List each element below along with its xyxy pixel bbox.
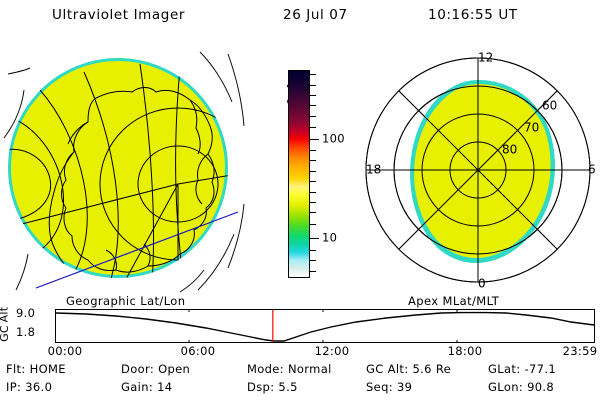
colorbar-minor-tick bbox=[310, 150, 316, 151]
colorbar-major-tick bbox=[310, 238, 319, 239]
colorbar-minor-tick bbox=[310, 85, 316, 86]
status-field: GLon: 90.8 bbox=[488, 380, 554, 394]
status-field: Flt: HOME bbox=[6, 362, 66, 376]
colorbar-minor-tick bbox=[310, 212, 316, 213]
colorbar-gradient-box bbox=[288, 70, 310, 278]
status-field: GC Alt: 5.6 Re bbox=[366, 362, 451, 376]
strip-ytick-low: 1.8 bbox=[16, 325, 35, 339]
polar-mlt-label: 0 bbox=[478, 277, 486, 291]
strip-label-geographic: Geographic Lat/Lon bbox=[66, 294, 185, 308]
colorbar-minor-tick bbox=[310, 171, 316, 172]
polar-mlt-label: 6 bbox=[588, 163, 596, 177]
colorbar-minor-tick bbox=[310, 116, 316, 117]
status-field: Mode: Normal bbox=[247, 362, 332, 376]
colorbar-minor-tick bbox=[310, 202, 316, 203]
strip-time-tick-label: 00:00 bbox=[48, 344, 83, 358]
strip-ylabel-alt: Alt bbox=[0, 307, 10, 323]
status-field: Dsp: 5.5 bbox=[247, 380, 298, 394]
observation-time: 10:16:55 UT bbox=[428, 7, 518, 23]
strip-time-tick-label: 06:00 bbox=[181, 344, 216, 358]
geographic-globe-image bbox=[0, 46, 258, 294]
colorbar-minor-tick bbox=[310, 192, 316, 193]
status-field: Gain: 14 bbox=[121, 380, 172, 394]
strip-time-tick-label: 18:00 bbox=[448, 344, 483, 358]
colorbar-minor-tick bbox=[310, 105, 316, 106]
strip-time-tick-label: 23:59 bbox=[563, 344, 598, 358]
colorbar-minor-tick bbox=[310, 224, 316, 225]
polar-mlt-label: 18 bbox=[366, 163, 381, 177]
orbit-altitude-curve bbox=[56, 310, 594, 342]
colorbar-tick-label: 10 bbox=[322, 233, 337, 245]
page-title: Ultraviolet Imager bbox=[52, 7, 185, 23]
polar-grid-overlay bbox=[366, 58, 590, 282]
header: Ultraviolet Imager 26 Jul 07 10:16:55 UT bbox=[0, 4, 600, 28]
apex-polar-plot: 121860607080 bbox=[356, 46, 600, 294]
observation-date: 26 Jul 07 bbox=[283, 7, 348, 23]
colorbar-minor-tick bbox=[310, 181, 316, 182]
colorbar-major-tick bbox=[310, 139, 319, 140]
uvi-summary-page: Ultraviolet Imager 26 Jul 07 10:16:55 UT bbox=[0, 0, 600, 400]
colorbar-panel: photon cm-2s-1 10010 bbox=[265, 46, 355, 294]
strip-plot-box bbox=[55, 309, 595, 343]
polar-latitude-label: 80 bbox=[502, 143, 517, 157]
colorbar-minor-tick bbox=[310, 127, 316, 128]
status-field: IP: 36.0 bbox=[6, 380, 52, 394]
colorbar-ticks: 10010 bbox=[310, 70, 354, 278]
polar-latitude-label: 60 bbox=[542, 99, 557, 113]
strip-label-apex: Apex MLat/MLT bbox=[408, 294, 499, 308]
polar-mlt-label: 12 bbox=[478, 51, 493, 65]
strip-time-tick-label: 12:00 bbox=[315, 344, 350, 358]
colorbar-minor-tick bbox=[310, 271, 316, 272]
orbit-altitude-strip-panel: Geographic Lat/Lon Apex MLat/MLT Alt GC … bbox=[0, 294, 600, 360]
colorbar-minor-tick bbox=[310, 74, 316, 75]
status-field: GLat: -77.1 bbox=[488, 362, 556, 376]
colorbar-gradient bbox=[289, 71, 309, 277]
strip-ylabel-gc: GC bbox=[0, 325, 11, 342]
colorbar-minor-tick bbox=[310, 95, 316, 96]
auroral-oval bbox=[410, 80, 555, 263]
polar-latitude-label: 70 bbox=[524, 121, 539, 135]
colorbar-minor-tick bbox=[310, 250, 316, 251]
colorbar-minor-tick bbox=[310, 260, 316, 261]
colorbar-minor-tick bbox=[310, 160, 316, 161]
status-block: Flt: HOMEDoor: OpenMode: NormalGC Alt: 5… bbox=[0, 361, 600, 400]
strip-time-axis: 00:0006:0012:0018:0023:59 bbox=[0, 344, 600, 360]
status-field: Seq: 39 bbox=[366, 380, 412, 394]
colorbar-tick-label: 100 bbox=[322, 133, 345, 145]
status-field: Door: Open bbox=[121, 362, 190, 376]
strip-ytick-high: 9.0 bbox=[16, 306, 35, 320]
geographic-globe-panel bbox=[0, 46, 258, 294]
apex-polar-panel: 121860607080 bbox=[356, 46, 600, 294]
